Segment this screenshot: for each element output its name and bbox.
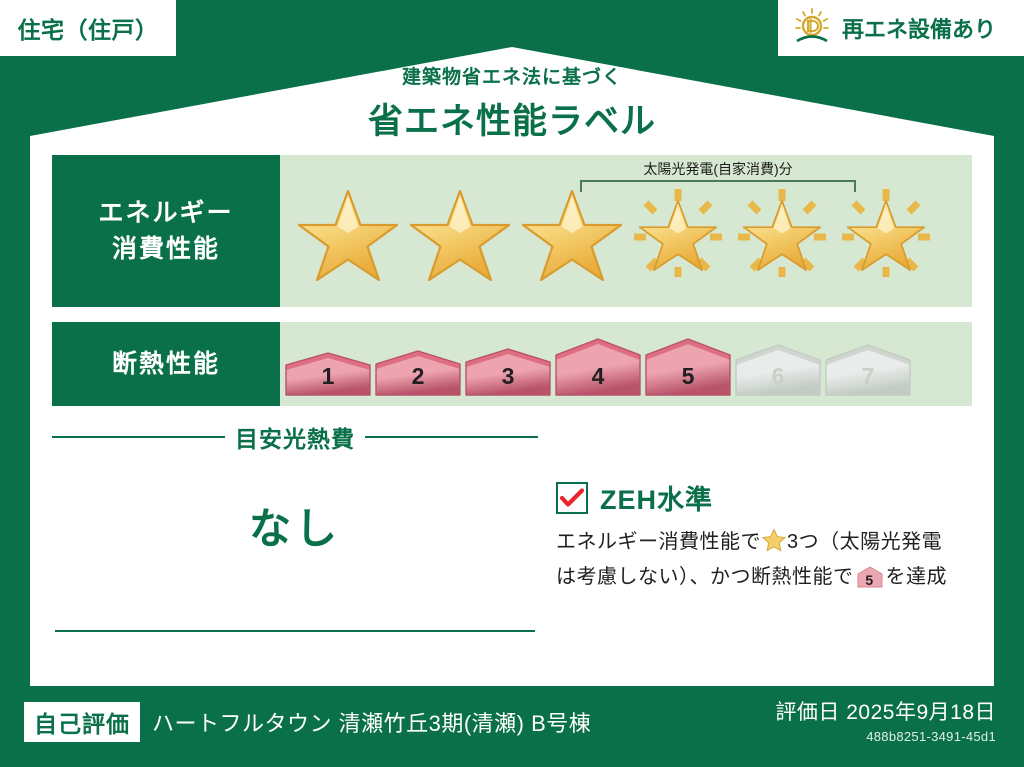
utility-cost-divider: 目安光熱費 xyxy=(52,424,538,450)
footer-bar: 自己評価 ハートフルタウン 清瀬竹丘3期(清瀬) B号棟 評価日 2025年9月… xyxy=(0,686,1024,767)
solar-star-6 xyxy=(836,185,936,281)
energy-performance-body: 太陽光発電(自家消費)分 xyxy=(280,155,972,307)
zeh-star-count: 3つ（太陽光発電 xyxy=(787,531,942,553)
self-evaluation-badge: 自己評価 xyxy=(24,702,140,742)
title-main: 省エネ性能ラベル xyxy=(0,93,1024,144)
star-1 xyxy=(298,185,398,281)
energy-label-line1: エネルギー xyxy=(98,195,233,231)
insulation-level-6: 6 xyxy=(734,344,822,396)
zeh-header: ZEH水準 xyxy=(556,478,976,517)
utility-cost-title: 目安光熱費 xyxy=(235,420,355,454)
energy-label-line2: 消費性能 xyxy=(112,231,220,267)
inline-house-icon: 5 xyxy=(857,566,883,598)
insulation-level-number-2: 2 xyxy=(374,363,462,390)
insulation-level-2: 2 xyxy=(374,350,462,396)
star-2 xyxy=(410,185,510,281)
insulation-performance-label: 断熱性能 xyxy=(52,322,280,406)
solar-sun-icon xyxy=(792,7,832,50)
zeh-standard-block: ZEH水準 エネルギー消費性能で 3つ（太陽光発電 は考慮しない）、かつ断熱性能… xyxy=(556,478,976,598)
insulation-level-number-5: 5 xyxy=(644,363,732,390)
energy-performance-row: エネルギー 消費性能 太陽光発電(自家消費)分 xyxy=(52,155,972,307)
inline-star-icon xyxy=(762,528,786,562)
energy-performance-label: エネルギー 消費性能 xyxy=(52,155,280,307)
insulation-level-number-6: 6 xyxy=(734,363,822,390)
title-subtitle: 建築物省エネ法に基づく xyxy=(0,62,1024,89)
dwelling-type-tag: 住宅（住戸） xyxy=(0,0,176,56)
zeh-title: ZEH水準 xyxy=(600,478,713,517)
zeh-desc-part3: を達成 xyxy=(886,566,948,588)
star-3 xyxy=(522,185,622,281)
utility-cost-bottom-rule xyxy=(55,630,535,632)
zeh-desc-part2: は考慮しない）、かつ断熱性能で xyxy=(556,566,854,588)
insulation-level-number-1: 1 xyxy=(284,363,372,390)
insulation-level-number-7: 7 xyxy=(824,363,912,390)
zeh-description: エネルギー消費性能で 3つ（太陽光発電 は考慮しない）、かつ断熱性能で 5 を達… xyxy=(556,527,976,598)
solar-star-5 xyxy=(732,185,832,281)
evaluation-date: 評価日 2025年9月18日 xyxy=(775,696,996,726)
insulation-performance-row: 断熱性能 1 xyxy=(52,322,972,406)
divider-line-left xyxy=(52,436,225,438)
inline-house-number: 5 xyxy=(857,570,883,592)
insulation-level-scale: 1 2 xyxy=(280,322,972,406)
insulation-level-number-3: 3 xyxy=(464,363,552,390)
zeh-checkbox[interactable] xyxy=(556,482,588,514)
building-name: ハートフルタウン 清瀬竹丘3期(清瀬) B号棟 xyxy=(152,706,591,738)
utility-cost-value: なし xyxy=(52,495,538,556)
page-title: 建築物省エネ法に基づく 省エネ性能ラベル xyxy=(0,62,1024,144)
insulation-level-3: 3 xyxy=(464,348,552,396)
footer-right: 評価日 2025年9月18日 488b8251-3491-45d1 xyxy=(775,696,996,744)
divider-line-right xyxy=(365,436,538,438)
insulation-level-7: 7 xyxy=(824,344,912,396)
solar-star-4 xyxy=(628,185,728,281)
zeh-desc-part1: エネルギー消費性能で xyxy=(556,531,761,553)
insulation-level-number-4: 4 xyxy=(554,363,642,390)
insulation-performance-body: 1 2 xyxy=(280,322,972,406)
solar-bracket-label: 太陽光発電(自家消費)分 xyxy=(580,159,856,179)
star-rating: 太陽光発電(自家消費)分 xyxy=(280,155,972,307)
renewable-equipment-label: 再エネ設備あり xyxy=(842,12,996,44)
insulation-level-5: 5 xyxy=(644,338,732,396)
dwelling-type-label: 住宅（住戸） xyxy=(18,11,159,45)
evaluation-id: 488b8251-3491-45d1 xyxy=(775,729,996,744)
insulation-level-4: 4 xyxy=(554,338,642,396)
insulation-label-text: 断熱性能 xyxy=(112,346,220,382)
footer-left: 自己評価 ハートフルタウン 清瀬竹丘3期(清瀬) B号棟 xyxy=(24,702,591,742)
renewable-equipment-badge: 再エネ設備あり xyxy=(778,0,1024,56)
insulation-level-1: 1 xyxy=(284,352,372,396)
check-icon xyxy=(560,488,584,508)
